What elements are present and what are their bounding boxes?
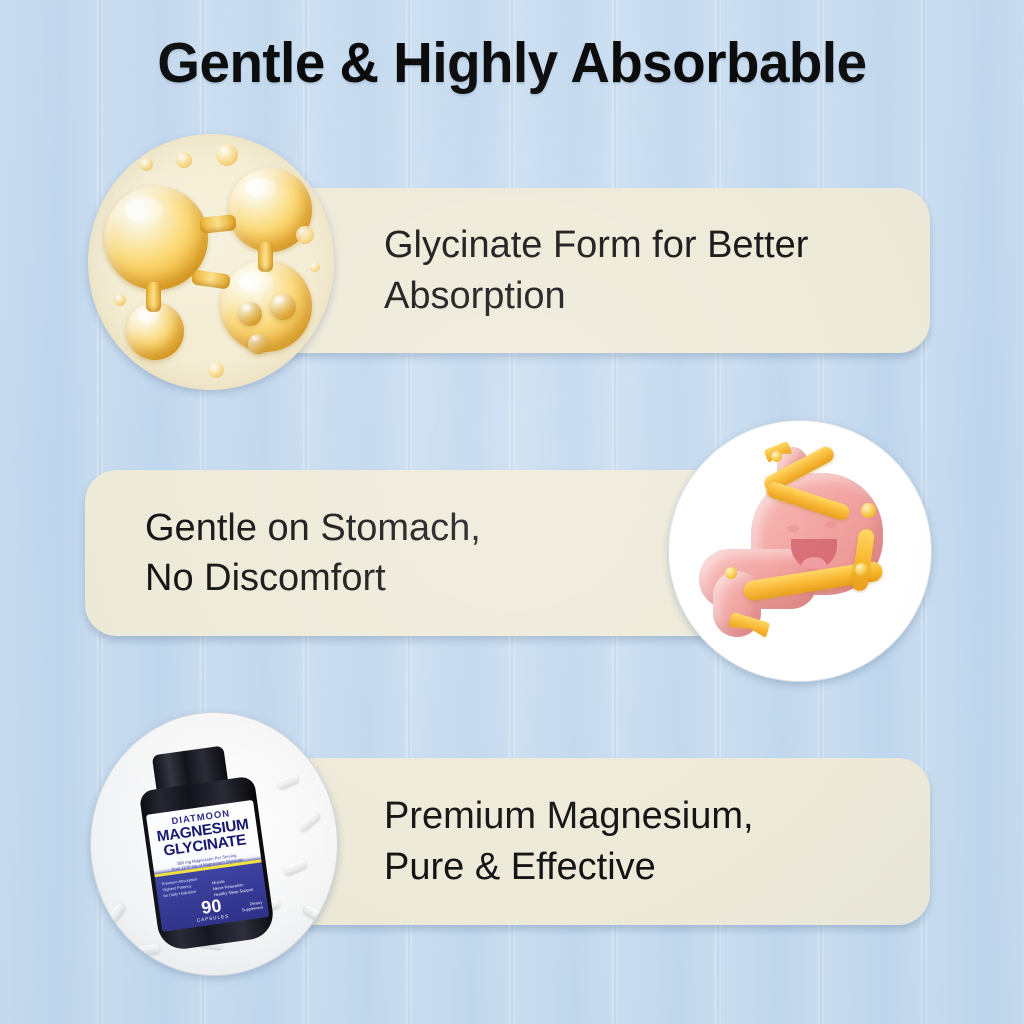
smiling-stomach-ribbon-image <box>668 420 932 682</box>
capsule <box>302 904 326 923</box>
oil-bubble-mini-b <box>270 294 296 320</box>
infographic-page: Gentle & Highly Absorbable Glycinate For… <box>0 0 1024 1024</box>
stomach-eye-left <box>787 525 799 532</box>
supplement-note: Dietary Supplement <box>241 899 264 912</box>
oil-droplet <box>114 294 126 306</box>
capsule <box>276 773 300 790</box>
oil-droplet <box>310 262 320 272</box>
ribbon-gem <box>771 451 782 462</box>
stomach-eye-right <box>825 521 837 528</box>
bottle-body: DIATMOON MAGNESIUM GLYCINATE 380 mg Magn… <box>139 776 276 953</box>
capsule <box>297 810 321 832</box>
oil-droplet <box>176 152 192 168</box>
oil-droplet <box>216 144 238 166</box>
feature-card-text: Glycinate Form for Better Absorption <box>384 220 900 320</box>
oil-bubbles-molecule-image <box>88 134 334 390</box>
feature-card-premium-magnesium: Premium Magnesium, Pure & Effective <box>236 758 930 925</box>
benefits-list-right: Muscle Nerve Relaxation Healthy Sleep Su… <box>212 874 260 898</box>
oil-droplet <box>208 362 224 378</box>
page-title: Gentle & Highly Absorbable <box>20 30 1003 96</box>
feature-card-glycinate-absorption: Glycinate Form for Better Absorption <box>236 188 930 353</box>
oil-bubble-mini-a <box>238 302 262 326</box>
bubble-neck-middle <box>191 269 231 289</box>
supplement-bottle: DIATMOON MAGNESIUM GLYCINATE 380 mg Magn… <box>126 741 284 953</box>
bubble-neck-horizontal <box>199 214 236 234</box>
oil-bubble-mini-c <box>248 334 268 354</box>
ribbon-gem <box>861 503 876 518</box>
capsule-count-badge: 90 CAPSULES <box>188 895 235 924</box>
product-bottle-image: DIATMOON MAGNESIUM GLYCINATE 380 mg Magn… <box>90 712 338 976</box>
benefits-list-left: Premium Absorption Highest Potency for D… <box>161 876 205 899</box>
ribbon-gem <box>855 563 868 576</box>
oil-droplet <box>140 158 153 171</box>
bubble-neck-vertical <box>258 242 273 272</box>
feature-card-text: Premium Magnesium, Pure & Effective <box>384 791 900 891</box>
bottle-label: DIATMOON MAGNESIUM GLYCINATE 380 mg Magn… <box>146 800 269 932</box>
ribbon-gem <box>725 567 737 579</box>
capsule <box>106 902 127 925</box>
bubble-neck-lower <box>146 282 161 312</box>
stomach-tongue <box>801 557 827 569</box>
oil-droplet <box>296 226 314 244</box>
capsule <box>282 859 308 876</box>
feature-card-text: Gentle on Stomach, No Discomfort <box>145 503 635 603</box>
